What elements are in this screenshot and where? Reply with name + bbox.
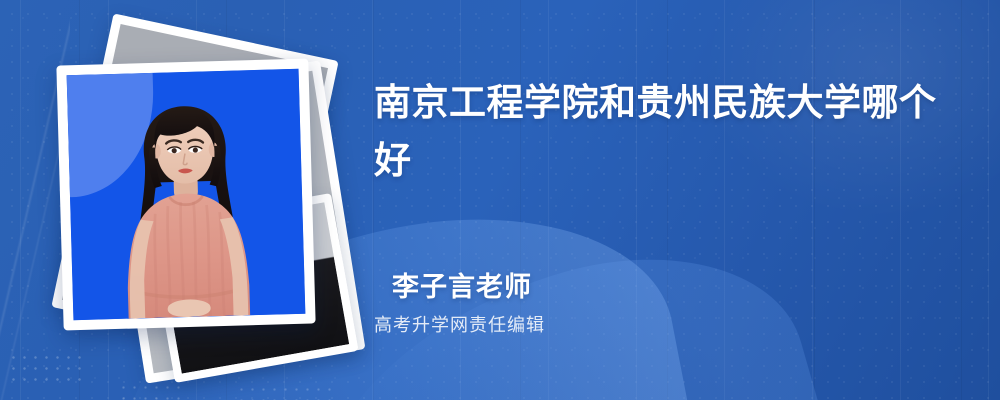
author-photo (67, 69, 306, 320)
author-photo-card (56, 59, 315, 331)
photo-card-stack (48, 28, 348, 373)
author-name-row: 李子言老师 (374, 270, 894, 304)
author-byline: 李子言老师 高考升学网责任编辑 (374, 270, 894, 337)
page-title: 南京工程学院和贵州民族大学哪个好 (374, 74, 954, 190)
author-role: 高考升学网责任编辑 (374, 313, 894, 337)
banner-text-column: 南京工程学院和贵州民族大学哪个好 李子言老师 高考升学网责任编辑 (374, 0, 974, 400)
background-dot-block-lower-left (118, 382, 188, 400)
article-header-banner: 南京工程学院和贵州民族大学哪个好 李子言老师 高考升学网责任编辑 (0, 0, 1000, 400)
author-accent-bar (374, 276, 378, 298)
background-dot-block-bottom (236, 384, 332, 400)
author-name: 李子言老师 (392, 270, 532, 304)
author-portrait-illustration (67, 69, 306, 320)
